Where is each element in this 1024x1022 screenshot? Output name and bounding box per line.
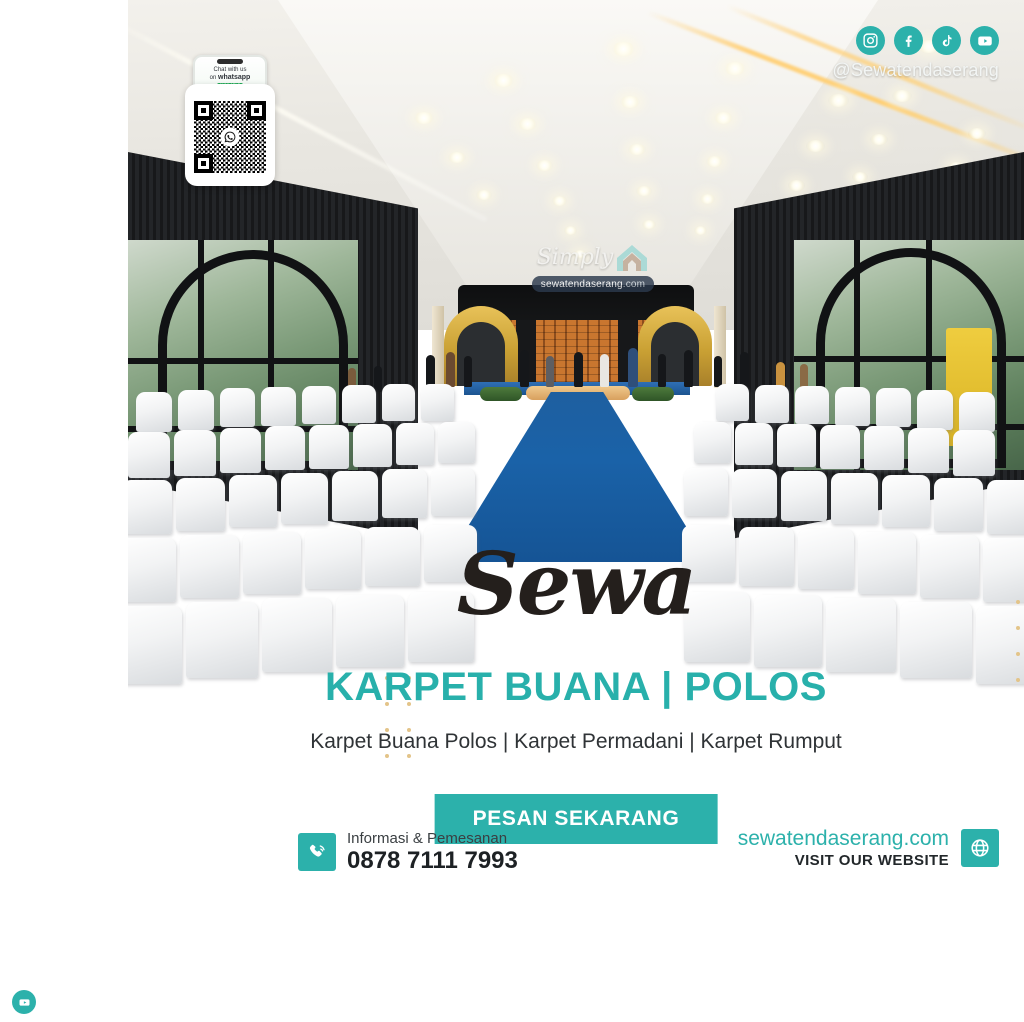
youtube-icon[interactable] <box>12 990 36 1014</box>
contact-label: Informasi & Pemesanan <box>347 830 518 847</box>
social-handle: @Sewatendaserang <box>832 60 999 81</box>
hero-photo-canvas: Simply sewatendaserang.com Chat with us … <box>128 0 1024 896</box>
house-tent-icon <box>615 243 649 273</box>
tiktok-icon[interactable] <box>932 26 961 55</box>
social-bar: @Sewatendaserang <box>832 26 999 81</box>
website-url: sewatendaserang.com <box>738 826 949 851</box>
page-subtitle: Karpet Buana Polos | Karpet Permadani | … <box>128 730 1024 754</box>
phone-icon <box>298 833 336 871</box>
phone-notch-icon <box>217 59 243 64</box>
website-block[interactable]: sewatendaserang.com VISIT OUR WEBSITE <box>738 826 999 871</box>
watermark-domain: sewatendaserang.com <box>532 276 654 292</box>
facebook-icon[interactable] <box>894 26 923 55</box>
instagram-icon[interactable] <box>856 26 885 55</box>
social-icon-row <box>832 26 999 55</box>
whatsapp-qr-card[interactable] <box>185 84 275 186</box>
globe-icon <box>961 829 999 867</box>
poster-root: Simply sewatendaserang.com Chat with us … <box>0 0 1024 1022</box>
page-title: KARPET BUANA | POLOS <box>128 665 1024 710</box>
watermark-logo: Simply sewatendaserang.com <box>528 243 658 292</box>
qr-code-image[interactable] <box>194 101 266 173</box>
contact-phone-number: 0878 7111 7993 <box>347 847 518 875</box>
sewa-script-word: Sewa <box>128 534 1024 635</box>
youtube-icon[interactable] <box>970 26 999 55</box>
whatsapp-icon <box>221 128 240 147</box>
contact-block[interactable]: Informasi & Pemesanan 0878 7111 7993 <box>298 830 518 875</box>
watermark-script: Simply <box>537 247 614 269</box>
website-tagline: VISIT OUR WEBSITE <box>738 851 949 871</box>
